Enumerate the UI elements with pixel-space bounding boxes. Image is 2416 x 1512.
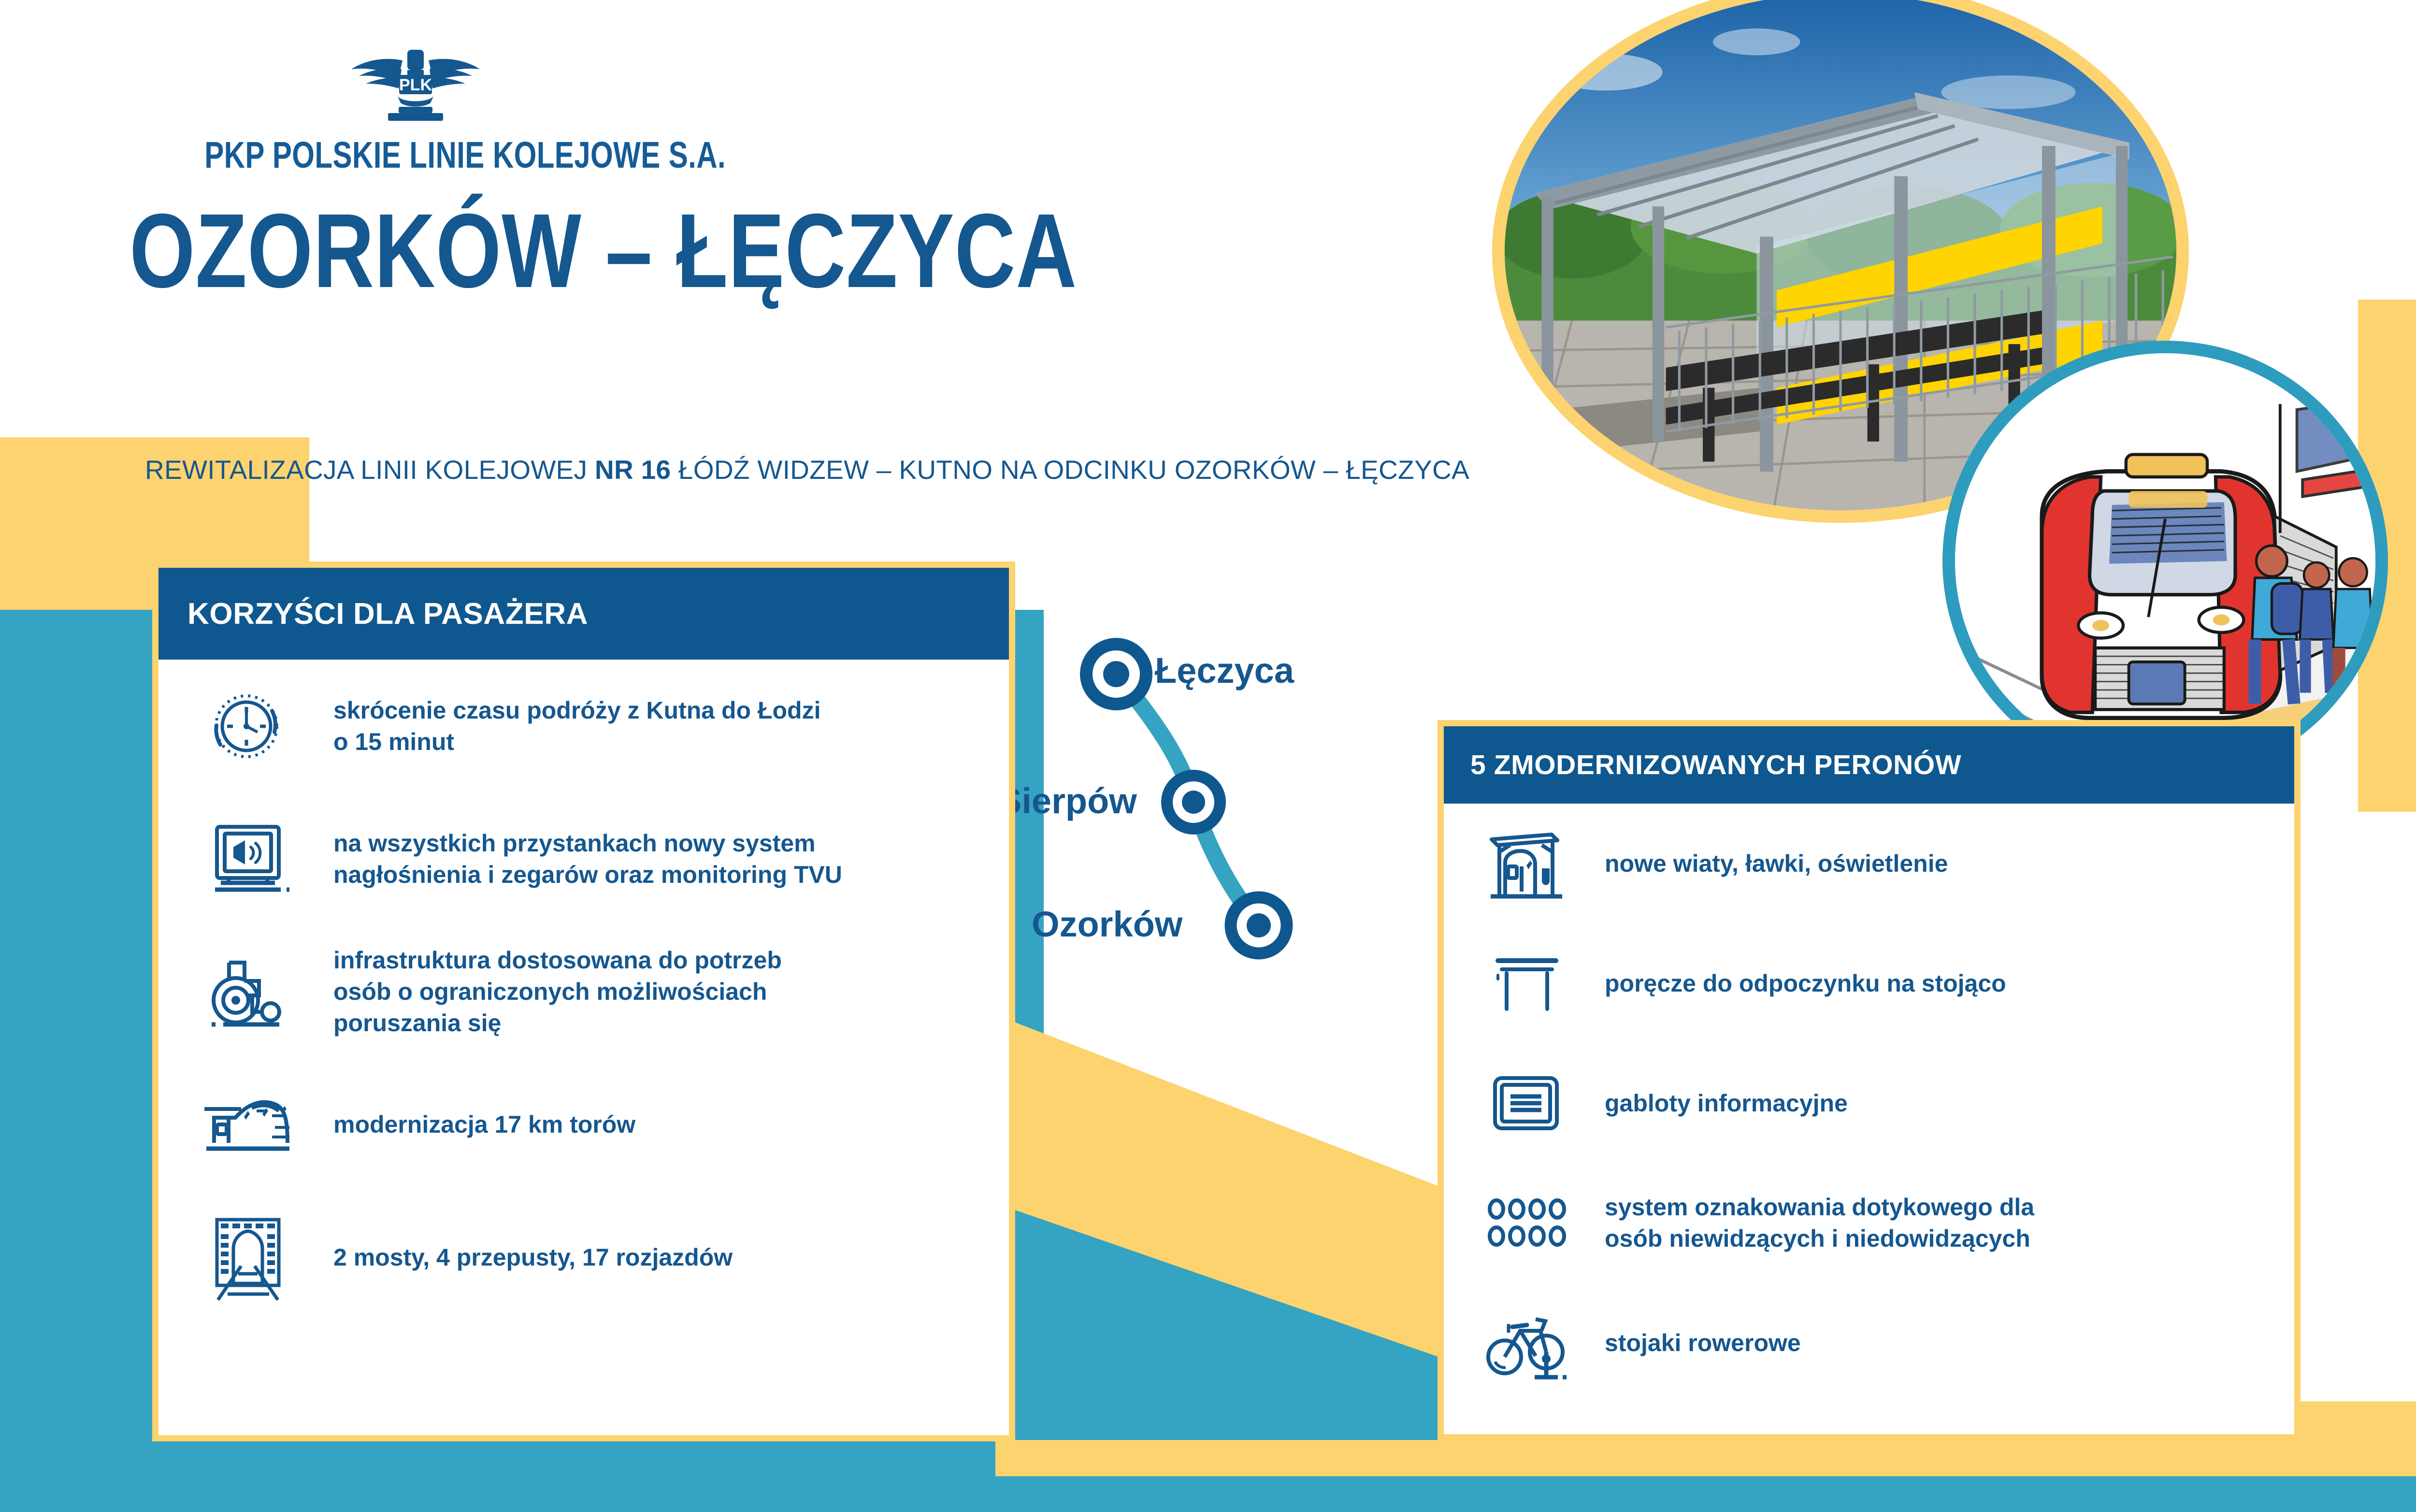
plk-monogram: PLK <box>399 76 432 94</box>
plk-winged-emblem: PLK <box>341 46 490 123</box>
station-label-sierpow: Sierpów <box>998 780 1137 821</box>
wheelchair-icon <box>173 951 323 1033</box>
speaker-display-icon <box>173 819 323 899</box>
platforms-panel: 5 ZMODERNIZOWANYCH PERONÓW <box>1438 720 2301 1440</box>
list-item: skrócenie czasu podróży z Kutna do Łodzi… <box>158 660 1009 792</box>
tactile-dots-icon <box>1458 1196 1596 1250</box>
company-logo: PLK PKP POLSKIE LINIE KOLEJOWE S.A. <box>145 46 686 177</box>
list-item-text: gabloty informacyjne <box>1605 1088 1848 1119</box>
station-node-leczyca[interactable] <box>1086 644 1146 704</box>
station-label-leczyca: Łęczyca <box>1155 650 1294 691</box>
subtitle-pre: REWITALIZACJA LINII KOLEJOWEJ <box>145 455 595 485</box>
company-name: PKP POLSKIE LINIE KOLEJOWE S.A. <box>204 134 627 177</box>
platform-shelter-icon <box>1458 824 1596 904</box>
list-item-text: modernizacja 17 km torów <box>333 1109 635 1140</box>
list-item-text: skrócenie czasu podróży z Kutna do Łodzi… <box>333 695 820 758</box>
platforms-panel-header: 5 ZMODERNIZOWANYCH PERONÓW <box>1444 726 2294 804</box>
subtitle-line-number: NR 16 <box>595 455 671 485</box>
teal-bottom-strip <box>0 1476 2416 1512</box>
list-item-text: stojaki rowerowe <box>1605 1327 1801 1359</box>
benefits-panel-title: KORZYŚCI DLA PASAŻERA <box>187 597 588 631</box>
train-sketch-art <box>1955 353 2375 769</box>
list-item-text: poręcze do odpoczynku na stojąco <box>1605 968 2006 999</box>
list-item: 2 mosty, 4 przepusty, 17 rozjazdów <box>158 1191 1009 1324</box>
list-item-text: system oznakowania dotykowego dlaosób ni… <box>1605 1192 2034 1254</box>
infographic-page: PLK PKP POLSKIE LINIE KOLEJOWE S.A. OZOR… <box>0 0 2416 1512</box>
subtitle-post: ŁÓDŹ WIDZEW – KUTNO NA ODCINKU OZORKÓW –… <box>671 455 1469 485</box>
platforms-panel-title: 5 ZMODERNIZOWANYCH PERONÓW <box>1470 749 1961 781</box>
station-node-sierpow[interactable] <box>1167 776 1220 829</box>
list-item: infrastruktura dostosowana do potrzebosó… <box>158 925 1009 1058</box>
clock-icon <box>173 688 323 765</box>
list-item-text: infrastruktura dostosowana do potrzebosó… <box>333 945 782 1039</box>
station-node-ozorkow[interactable] <box>1231 897 1287 953</box>
station-label-ozorkow: Ozorków <box>1032 904 1182 945</box>
list-item-text: 2 mosty, 4 przepusty, 17 rozjazdów <box>333 1242 733 1273</box>
list-item: na wszystkich przystankach nowy systemna… <box>158 792 1009 925</box>
leaning-rail-icon <box>1458 952 1596 1015</box>
list-item: gabloty informacyjne <box>1444 1043 2294 1163</box>
train-illustration <box>1942 341 2388 781</box>
benefits-panel-header: KORZYŚCI DLA PASAŻERA <box>158 568 1009 660</box>
subtitle: REWITALIZACJA LINII KOLEJOWEJ NR 16 ŁÓDŹ… <box>145 454 1469 485</box>
list-item: system oznakowania dotykowego dlaosób ni… <box>1444 1163 2294 1283</box>
list-item-text: na wszystkich przystankach nowy systemna… <box>333 828 842 891</box>
benefits-panel: KORZYŚCI DLA PASAŻERA <box>152 562 1015 1441</box>
tunnel-icon <box>173 1213 323 1302</box>
info-board-icon <box>1458 1069 1596 1137</box>
page-title: OZORKÓW – ŁĘCZYCA <box>129 191 1077 312</box>
benefits-panel-body: skrócenie czasu podróży z Kutna do Łodzi… <box>158 660 1009 1324</box>
list-item: poręcze do odpoczynku na stojąco <box>1444 923 2294 1043</box>
list-item-text: nowe wiaty, ławki, oświetlenie <box>1605 848 1948 879</box>
bicycle-rack-icon <box>1458 1306 1596 1381</box>
list-item: nowe wiaty, ławki, oświetlenie <box>1444 804 2294 923</box>
list-item: stojaki rowerowe <box>1444 1283 2294 1403</box>
train-icon <box>173 1089 323 1161</box>
list-item: modernizacja 17 km torów <box>158 1058 1009 1191</box>
platforms-panel-body: nowe wiaty, ławki, oświetlenie poręc <box>1444 804 2294 1403</box>
